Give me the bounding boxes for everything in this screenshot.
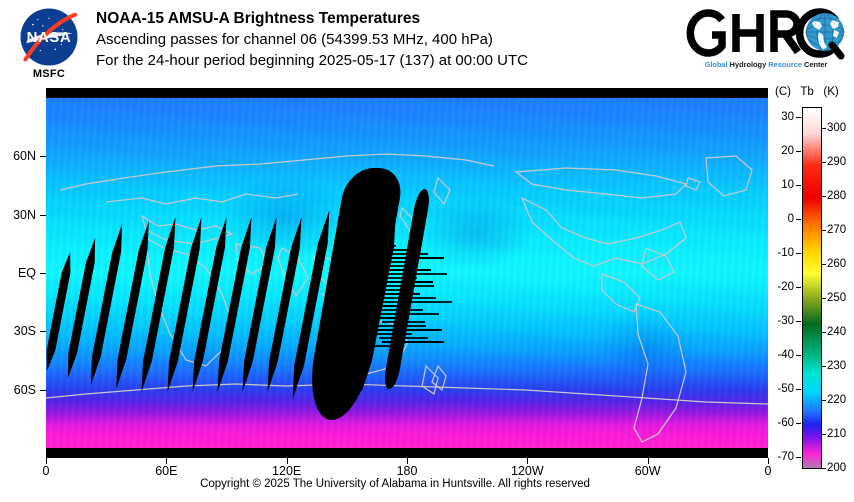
scanline-artifact	[373, 329, 442, 331]
x-axis-label: 0	[43, 464, 50, 478]
colorbar[interactable]	[802, 107, 822, 469]
y-axis-label: 60S	[0, 383, 36, 397]
map-plot-area	[46, 98, 768, 448]
colorbar-kelvin-tick	[821, 230, 826, 231]
colorbar-kelvin-tick	[821, 434, 826, 435]
scanline-artifact	[370, 305, 407, 307]
colorbar-celsius-tick	[796, 287, 801, 288]
colorbar-celsius-tick	[796, 151, 801, 152]
colorbar-unit-celsius: (C)	[775, 86, 791, 98]
y-axis-tick	[40, 215, 46, 216]
colorbar-kelvin-label: 300	[827, 122, 846, 134]
colorbar-celsius-tick	[796, 355, 801, 356]
colorbar-celsius-tick	[796, 389, 801, 390]
x-axis-label: 120E	[272, 464, 301, 478]
colorbar-celsius-label: -10	[772, 247, 794, 259]
colorbar-celsius-label: -60	[772, 417, 794, 429]
channel-subtitle: Ascending passes for channel 06 (54399.5…	[96, 29, 716, 50]
page-title: NOAA-15 AMSU-A Brightness Temperatures	[96, 8, 716, 29]
colorbar-kelvin-tick	[821, 400, 826, 401]
y-axis-tick	[40, 156, 46, 157]
scanline-artifact	[379, 297, 436, 299]
scanline-artifact	[382, 261, 414, 263]
scanline-artifact	[370, 325, 426, 327]
colorbar-kelvin-label: 200	[827, 462, 846, 474]
orbit-gap-layer	[46, 98, 768, 448]
x-axis-label: 60E	[155, 464, 177, 478]
colorbar-celsius-label: -50	[772, 383, 794, 395]
colorbar-kelvin-label: 240	[827, 326, 846, 338]
colorbar-celsius-tick	[796, 457, 801, 458]
x-axis-label: 120W	[511, 464, 544, 478]
colorbar-celsius-label: -70	[772, 451, 794, 463]
scanline-artifact	[376, 273, 447, 275]
ghrc-subtitle-global: Global	[705, 60, 730, 69]
scanline-artifact	[370, 345, 399, 347]
colorbar-kelvin-label: 270	[827, 224, 846, 236]
nasa-meatball-icon: NASA	[18, 6, 80, 68]
colorbar-celsius-label: 30	[772, 111, 794, 123]
y-axis-label: 30S	[0, 324, 36, 338]
scanline-artifact	[370, 285, 434, 287]
y-axis-label: 30N	[0, 208, 36, 222]
scanline-artifact	[379, 277, 417, 279]
colorbar-kelvin-tick	[821, 332, 826, 333]
scanline-artifact	[370, 265, 415, 267]
satellite-brightness-temperature-page: NASA MSFC NOAA-15 AMSU-A Brightness Temp…	[0, 0, 854, 502]
scanline-artifact	[376, 333, 412, 335]
ghrc-subtitle-center: Center	[804, 60, 827, 69]
colorbar-kelvin-tick	[821, 298, 826, 299]
y-axis-label: 60N	[0, 149, 36, 163]
y-axis-tick	[40, 273, 46, 274]
colorbar-celsius-tick	[796, 117, 801, 118]
nasa-center-label: MSFC	[10, 68, 88, 80]
colorbar-celsius-tick	[796, 219, 801, 220]
colorbar-kelvin-label: 250	[827, 292, 846, 304]
colorbar-celsius-tick	[796, 423, 801, 424]
colorbar-unit-kelvin: (K)	[823, 86, 838, 98]
colorbar-kelvin-label: 210	[827, 428, 846, 440]
y-axis-tick	[40, 390, 46, 391]
colorbar-celsius-label: 20	[772, 145, 794, 157]
colorbar-celsius-label: 10	[772, 179, 794, 191]
colorbar-kelvin-tick	[821, 162, 826, 163]
colorbar-kelvin-tick	[821, 366, 826, 367]
x-axis-label: 180	[397, 464, 418, 478]
colorbar-celsius-label: -20	[772, 281, 794, 293]
colorbar-kelvin-tick	[821, 264, 826, 265]
colorbar-gradient	[803, 108, 821, 468]
scanline-artifact	[379, 317, 409, 319]
colorbar-kelvin-tick	[821, 468, 826, 469]
colorbar-kelvin-label: 280	[827, 190, 846, 202]
scanline-artifact	[379, 337, 428, 339]
map-bottom-border	[46, 448, 768, 458]
colorbar-kelvin-label: 230	[827, 360, 846, 372]
scanline-artifact	[376, 313, 439, 315]
copyright-notice: Copyright © 2025 The University of Alaba…	[0, 478, 790, 490]
colorbar-kelvin-label: 220	[827, 394, 846, 406]
colorbar-kelvin-tick	[821, 128, 826, 129]
period-subtitle: For the 24-hour period beginning 2025-05…	[96, 50, 716, 71]
nasa-logo-block: NASA MSFC	[10, 6, 88, 84]
scanline-artifact	[376, 253, 428, 255]
orbit-direction-arrow-icon	[411, 88, 459, 99]
scanline-artifact	[382, 321, 425, 323]
scanline-artifact	[373, 269, 431, 271]
colorbar-kelvin-tick	[821, 196, 826, 197]
y-axis-label: EQ	[0, 266, 36, 280]
ghrc-logo-icon	[686, 4, 846, 62]
scanline-artifact	[382, 341, 444, 343]
ghrc-logo-block: Global Hydrology Resource Center	[686, 4, 846, 78]
x-axis-label: 0	[765, 464, 772, 478]
ghrc-subtitle-hydrology: Hydrology	[730, 60, 769, 69]
ghrc-subtitle: Global Hydrology Resource Center	[686, 60, 846, 69]
scanline-artifact	[370, 245, 396, 247]
colorbar-celsius-label: -30	[772, 315, 794, 327]
colorbar-kelvin-label: 260	[827, 258, 846, 270]
svg-text:NASA: NASA	[27, 30, 72, 46]
scanline-artifact	[373, 249, 412, 251]
colorbar-header: (C) Tb (K)	[775, 86, 839, 98]
colorbar-celsius-tick	[796, 321, 801, 322]
scanline-artifact	[379, 257, 444, 259]
scanline-artifact	[382, 301, 452, 303]
brightness-temperature-map[interactable]	[46, 88, 768, 458]
colorbar-celsius-label: -40	[772, 349, 794, 361]
scanline-artifact	[373, 309, 423, 311]
colorbar-celsius-tick	[796, 185, 801, 186]
scanline-artifact	[376, 293, 420, 295]
x-axis-label: 60W	[635, 464, 661, 478]
title-block: NOAA-15 AMSU-A Brightness Temperatures A…	[96, 8, 716, 71]
colorbar-label: Tb	[800, 86, 813, 98]
scanline-artifact	[373, 289, 404, 291]
ghrc-subtitle-resource: Resource	[768, 60, 804, 69]
colorbar-kelvin-label: 290	[827, 156, 846, 168]
y-axis-tick	[40, 331, 46, 332]
colorbar-celsius-tick	[796, 253, 801, 254]
map-top-border	[46, 88, 768, 98]
colorbar-celsius-label: 0	[772, 213, 794, 225]
scanline-artifact	[382, 281, 433, 283]
